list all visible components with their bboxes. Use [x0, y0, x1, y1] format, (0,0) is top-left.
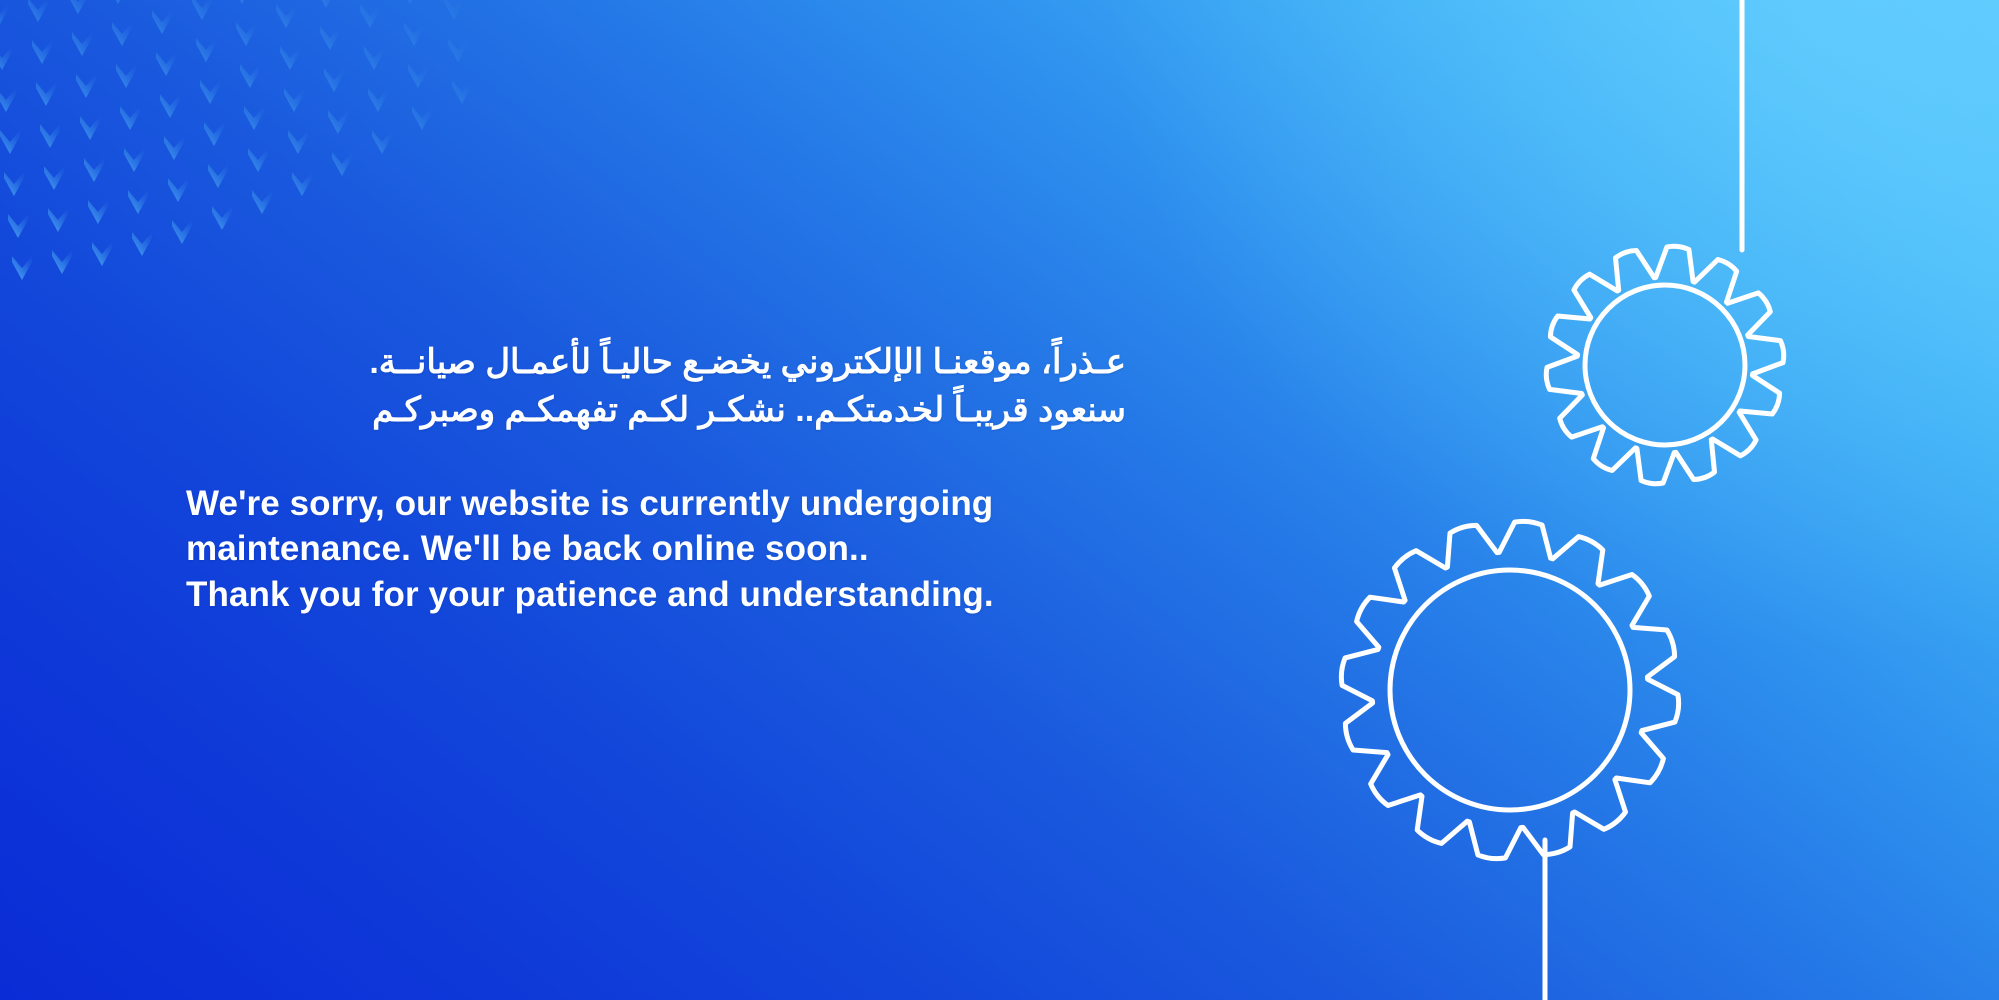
arabic-line-1: عـذراً، موقعنـا الإلكتروني يخضـع حاليـاً… — [186, 338, 1126, 386]
large-gear-teeth — [1341, 521, 1678, 858]
english-message: We're sorry, our website is currently un… — [186, 481, 1186, 618]
english-line-2: maintenance. We'll be back online soon.. — [186, 526, 1186, 572]
maintenance-message: عـذراً، موقعنـا الإلكتروني يخضـع حاليـاً… — [186, 338, 1186, 617]
small-gear-hub — [1585, 285, 1745, 445]
maintenance-page: عـذراً، موقعنـا الإلكتروني يخضـع حاليـاً… — [0, 0, 1999, 1000]
small-gear-teeth — [1546, 246, 1783, 483]
large-gear-hub — [1390, 570, 1630, 810]
chevron-grid — [0, 0, 472, 284]
english-line-1: We're sorry, our website is currently un… — [186, 481, 1186, 527]
english-line-3: Thank you for your patience and understa… — [186, 572, 1186, 618]
chevron-pattern — [0, 0, 520, 380]
background-glow — [1099, 0, 1999, 660]
arabic-line-2: سنعود قريبـاً لخدمتكـم.. نشكـر لكـم تفهم… — [186, 386, 1126, 434]
arabic-message: عـذراً، موقعنـا الإلكتروني يخضـع حاليـاً… — [186, 338, 1126, 435]
